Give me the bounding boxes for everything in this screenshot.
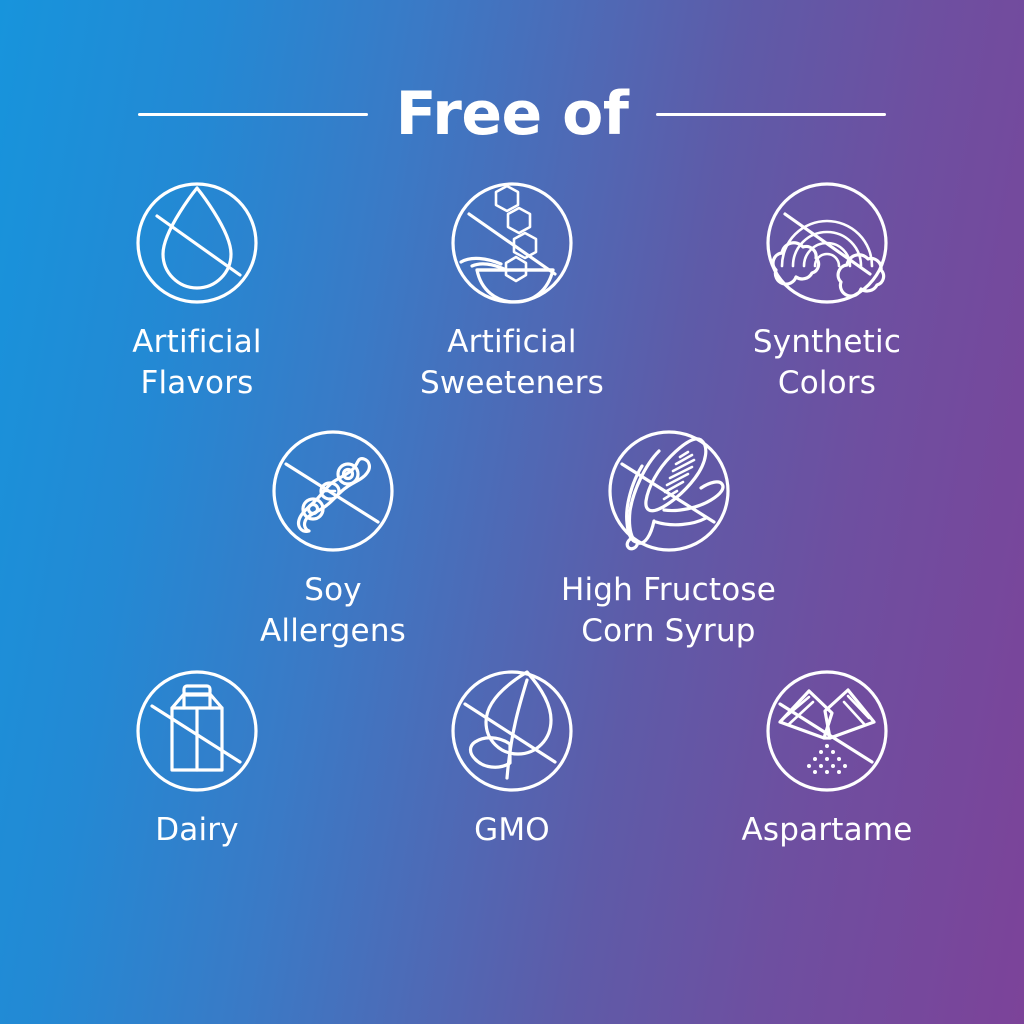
item-label: GMO [474, 810, 550, 851]
item-artificial-flavors[interactable]: Artificial Flavors [95, 178, 300, 404]
item-label: Synthetic Colors [753, 322, 901, 404]
item-dairy[interactable]: Dairy [95, 666, 300, 851]
no-corn-cob-icon [604, 426, 734, 556]
title-row: Free of [0, 74, 1024, 154]
no-sweetener-packets-icon [762, 666, 892, 796]
item-label: Soy Allergens [260, 570, 406, 652]
icon-grid: Artificial Flavors [0, 178, 1024, 851]
icon-row-2: Soy Allergens [0, 426, 1024, 652]
item-label: Artificial Flavors [132, 322, 262, 404]
icon-row-3: Dairy GMO [0, 666, 1024, 851]
divider-right [656, 113, 886, 116]
item-soy-allergens[interactable]: Soy Allergens [231, 426, 436, 652]
item-synthetic-colors[interactable]: Synthetic Colors [725, 178, 930, 404]
item-gmo[interactable]: GMO [410, 666, 615, 851]
divider-left [138, 113, 368, 116]
no-leaf-icon [447, 666, 577, 796]
item-label: Artificial Sweeteners [420, 322, 604, 404]
item-label: Dairy [155, 810, 239, 851]
item-label: High Fructose Corn Syrup [561, 570, 776, 652]
no-spoon-molecule-icon [447, 178, 577, 308]
free-of-poster: Free of Artificial Flavors [0, 0, 1024, 1024]
page-title: Free of [396, 84, 629, 144]
no-milk-carton-icon [132, 666, 262, 796]
no-rainbow-icon [762, 178, 892, 308]
item-artificial-sweeteners[interactable]: Artificial Sweeteners [410, 178, 615, 404]
item-label: Aspartame [742, 810, 913, 851]
item-high-fructose-corn-syrup[interactable]: High Fructose Corn Syrup [544, 426, 794, 652]
no-soybean-pod-icon [268, 426, 398, 556]
no-droplet-icon [132, 178, 262, 308]
icon-row-1: Artificial Flavors [0, 178, 1024, 404]
item-aspartame[interactable]: Aspartame [725, 666, 930, 851]
